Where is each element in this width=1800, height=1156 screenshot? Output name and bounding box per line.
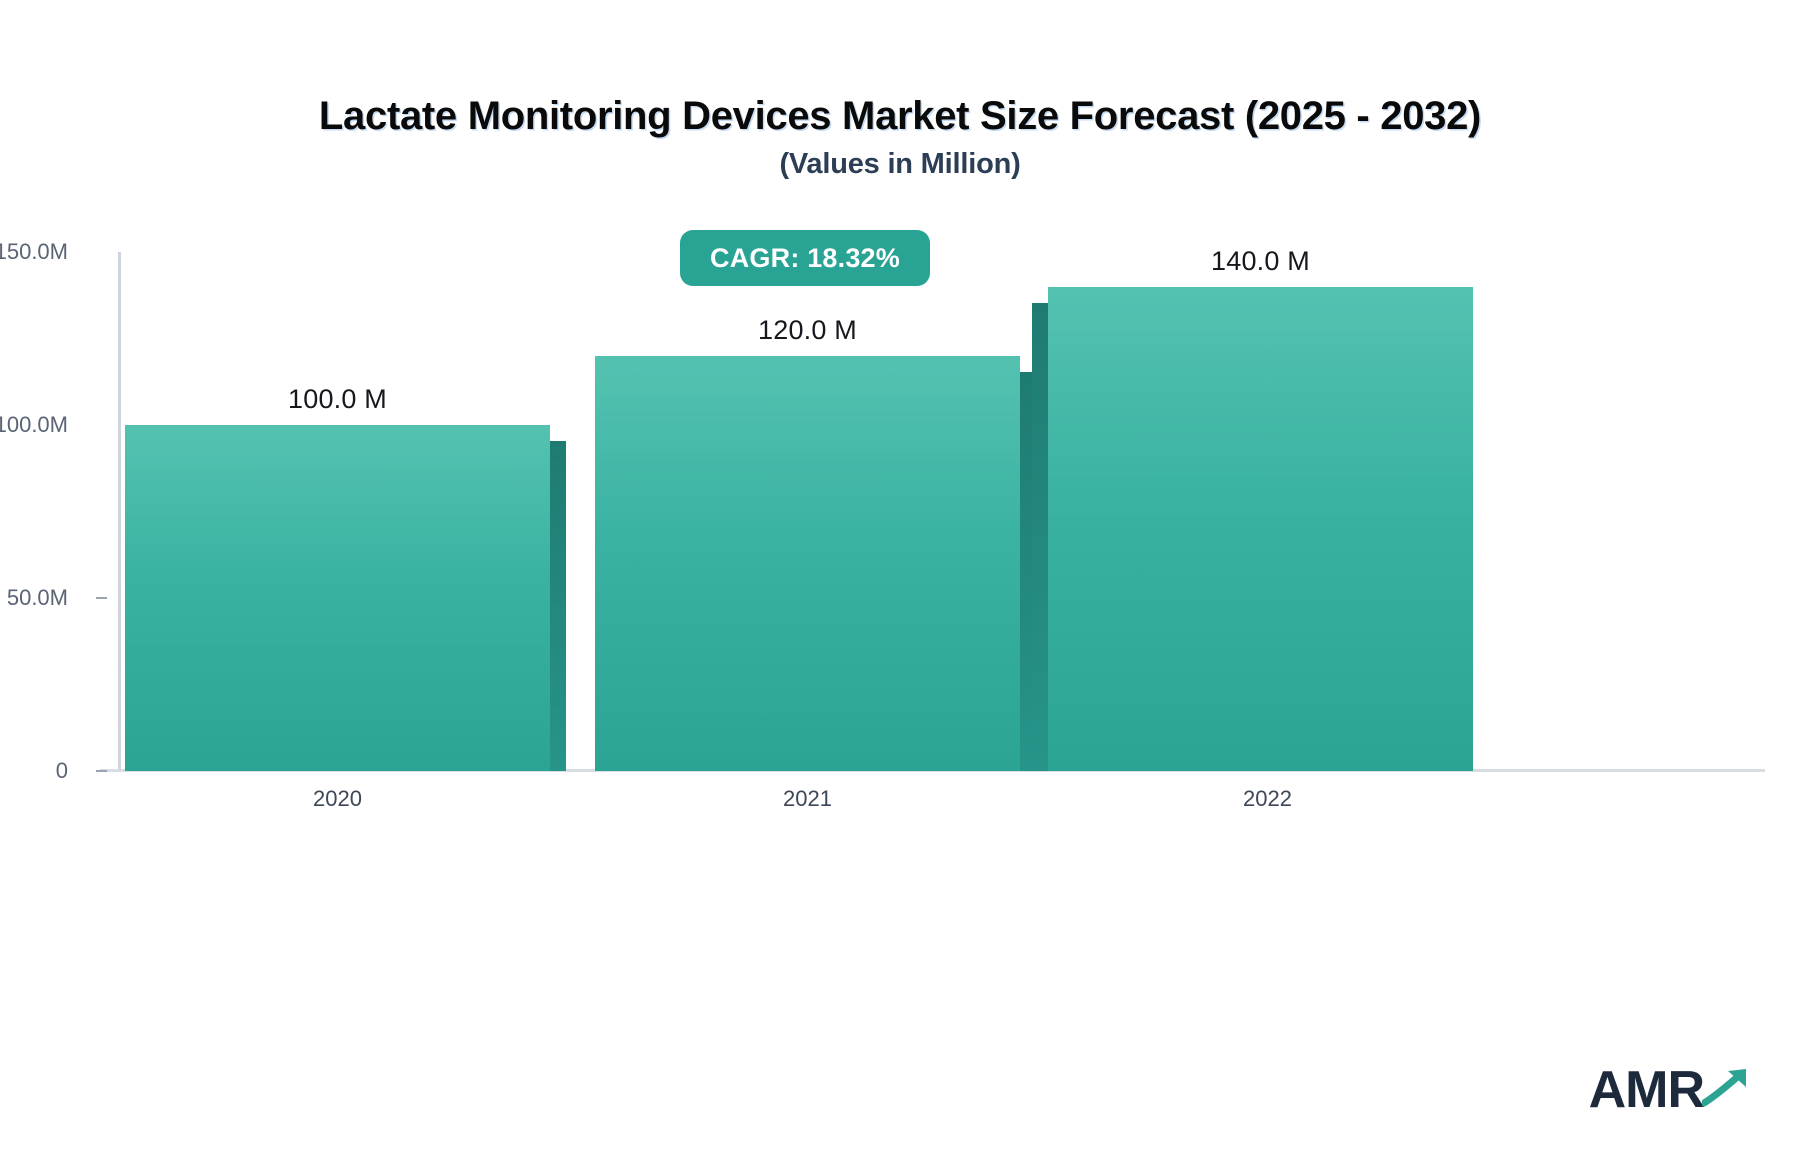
chart-subtitle: (Values in Million)	[0, 148, 1800, 181]
bar-face-2021[interactable]	[595, 356, 1020, 771]
plot-area: 100.0 M 120.0 M 140.0 M	[118, 252, 1768, 771]
y-tick-mark-50	[96, 597, 107, 599]
amr-logo-text: AMR	[1589, 1064, 1704, 1116]
bar-value-label-2021: 120.0 M	[595, 315, 1020, 346]
y-tick-label-50: 50.0M	[0, 585, 68, 611]
bar-group-2022[interactable]: 140.0 M	[1048, 287, 1473, 771]
bar-side-2022	[1032, 303, 1048, 771]
bar-side-2020	[550, 441, 566, 771]
x-tick-label-2022: 2022	[1055, 786, 1480, 812]
bar-group-2021[interactable]: 120.0 M	[595, 356, 1020, 771]
y-tick-label-100: 100.0M	[0, 412, 68, 438]
bar-face-2022[interactable]	[1048, 287, 1473, 771]
x-tick-label-2020: 2020	[125, 786, 550, 812]
cagr-badge: CAGR: 18.32%	[680, 230, 930, 286]
arrow-up-right-icon	[1702, 1067, 1748, 1112]
bar-value-label-2020: 100.0 M	[125, 384, 550, 415]
chart-title: Lactate Monitoring Devices Market Size F…	[0, 94, 1800, 139]
bar-group-2020[interactable]: 100.0 M	[125, 425, 550, 771]
bar-face-2020[interactable]	[125, 425, 550, 771]
y-tick-label-150: 150.0M	[0, 239, 68, 265]
bar-value-label-2022: 140.0 M	[1048, 246, 1473, 277]
x-tick-label-2021: 2021	[595, 786, 1020, 812]
y-tick-mark-0	[96, 770, 107, 772]
y-tick-label-0: 0	[0, 758, 68, 784]
cagr-badge-label: CAGR: 18.32%	[710, 243, 900, 274]
amr-logo[interactable]: AMR	[1589, 1064, 1748, 1116]
